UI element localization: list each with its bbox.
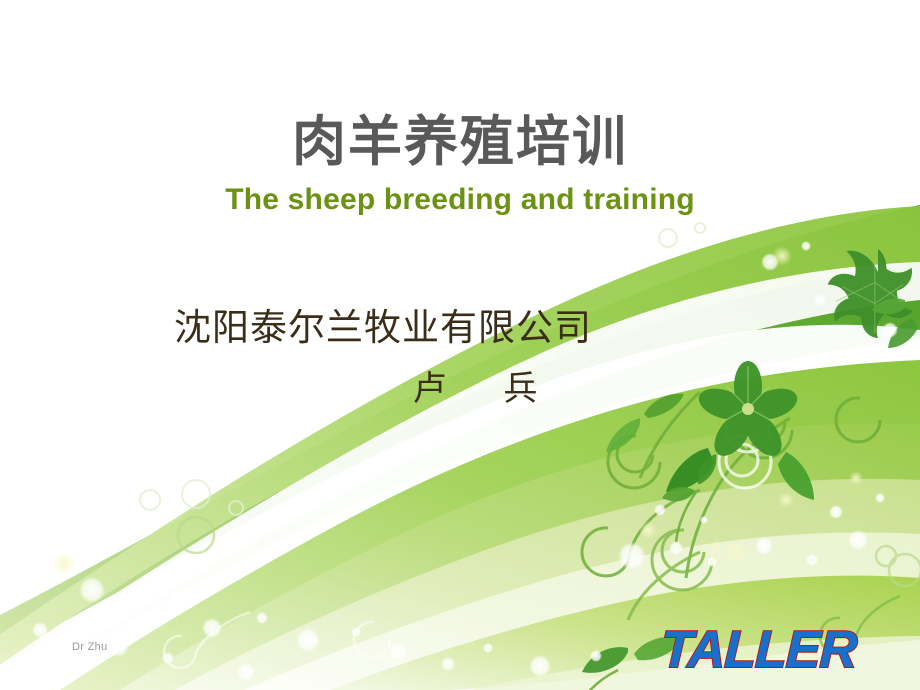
author-watermark: Dr Zhu [72,641,107,653]
taller-logo: TALLER TALLER [660,620,857,680]
slide-title-english: The sheep breeding and training [0,182,920,218]
presenter-name: 卢 兵 [15,368,920,411]
presentation-slide: 肉羊养殖培训 The sheep breeding and training 沈… [0,0,920,690]
slide-text-layer: 肉羊养殖培训 The sheep breeding and training 沈… [0,0,920,690]
company-name: 沈阳泰尔兰牧业有限公司 [0,305,843,351]
slide-title-chinese: 肉羊养殖培训 [0,112,920,172]
taller-logo-text-fill: TALLER [660,620,857,680]
